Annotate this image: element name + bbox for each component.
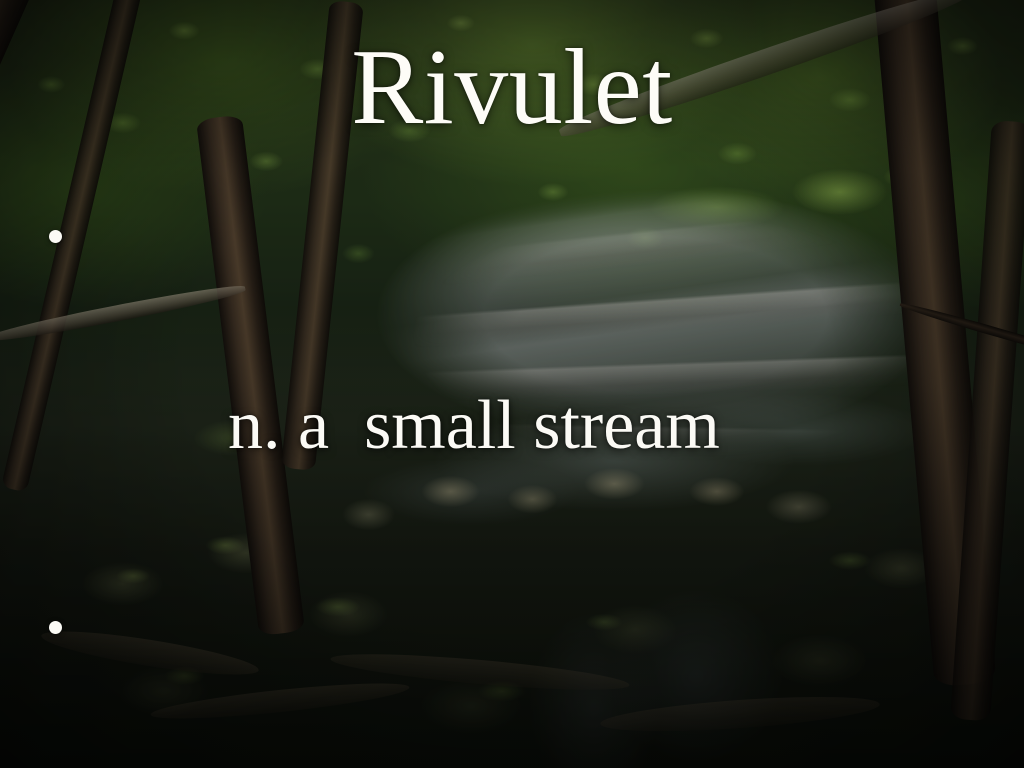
bullet-dot-icon — [49, 230, 62, 243]
slide-content: Rivulet n. a small stream Syn: creek, ri… — [0, 0, 1024, 768]
bullet-item-definition: n. a small stream — [40, 186, 984, 570]
bullet-dot-icon — [49, 621, 62, 634]
slide-title: Rivulet — [0, 34, 1024, 142]
bullet-text-definition: n. a small stream — [228, 387, 720, 464]
presentation-slide: Rivulet n. a small stream Syn: creek, ri… — [0, 0, 1024, 768]
bullet-list: n. a small stream Syn: creek, rill Rudy … — [40, 186, 984, 768]
bullet-item-synonyms: Syn: creek, rill — [40, 577, 984, 768]
